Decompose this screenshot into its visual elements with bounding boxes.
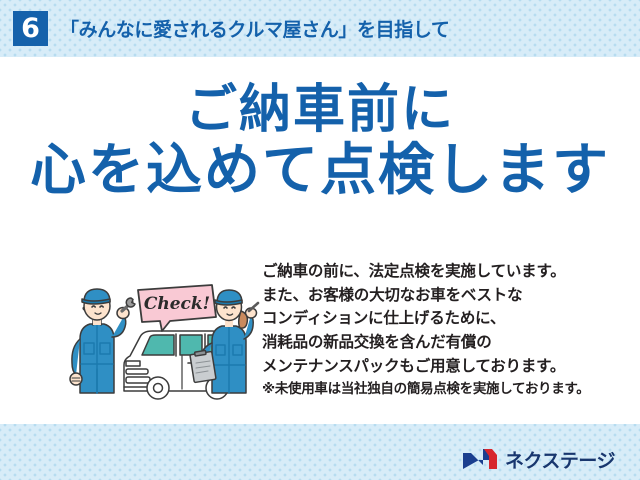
check-label: Check! bbox=[144, 294, 210, 314]
headline: ご納車前に 心を込めて点検します bbox=[0, 84, 640, 199]
mechanics-illustration: Check! bbox=[62, 269, 262, 404]
promo-banner: 6 「みんなに愛されるクルマ屋さん」を目指して ご納車前に 心を込めて点検します… bbox=[0, 0, 640, 480]
step-number-badge: 6 bbox=[13, 11, 48, 46]
content-card: ご納車前に 心を込めて点検します ご納車の前に、法定点検を実施しています。 また… bbox=[0, 57, 640, 424]
body-line-3: コンディションに仕上げるために、 bbox=[262, 307, 632, 331]
body-copy: ご納車の前に、法定点検を実施しています。 また、お客様の大切なお車をベストな コ… bbox=[262, 260, 632, 399]
brand-name: ネクステージ bbox=[505, 446, 615, 473]
banner-header: 6 「みんなに愛されるクルマ屋さん」を目指して bbox=[0, 0, 640, 57]
body-line-2: また、お客様の大切なお車をベストな bbox=[262, 284, 632, 308]
header-title: 「みんなに愛されるクルマ屋さん」を目指して bbox=[60, 15, 449, 42]
headline-line-1: ご納車前に bbox=[0, 84, 640, 137]
body-line-1: ご納車の前に、法定点検を実施しています。 bbox=[262, 260, 632, 284]
footer-logo: ネクステージ bbox=[462, 446, 615, 472]
nextage-n-mark bbox=[462, 448, 498, 470]
body-line-4: 消耗品の新品交換を含んだ有償の bbox=[262, 331, 632, 355]
body-note: ※未使用車は当社独自の簡易点検を実施しております。 bbox=[262, 379, 632, 400]
body-line-5: メンテナンスパックもご用意しております。 bbox=[262, 355, 632, 379]
headline-line-2: 心を込めて点検します bbox=[0, 142, 640, 199]
